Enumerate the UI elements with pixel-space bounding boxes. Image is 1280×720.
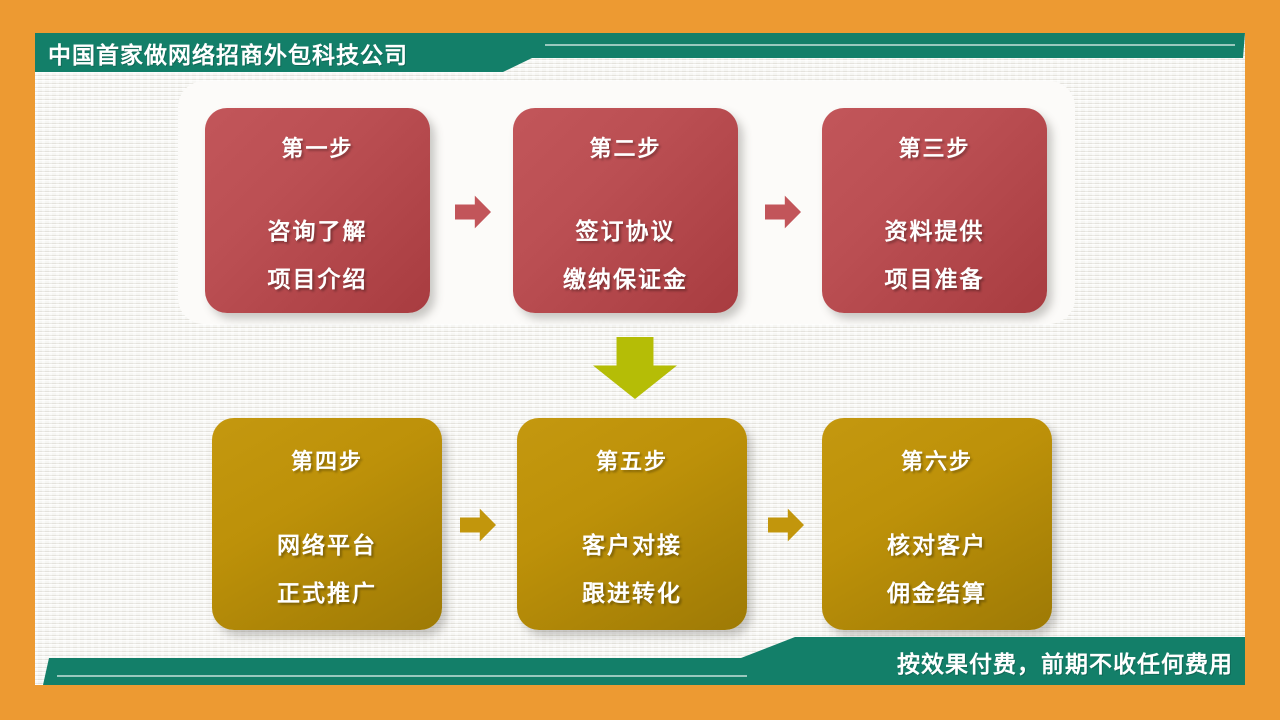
- step-card-2-title: 第二步: [589, 131, 661, 163]
- step-card-1-title: 第一步: [281, 131, 353, 163]
- footer-tagline: 按效果付费，前期不收任何费用: [897, 645, 1233, 679]
- step-card-2-line1: 签订协议: [576, 212, 676, 246]
- step-card-1[interactable]: 第一步 咨询了解 项目介绍: [205, 108, 430, 313]
- step-card-6-line1: 核对客户: [887, 526, 987, 560]
- step-card-6-line2: 佣金结算: [887, 574, 987, 608]
- step-card-5-line2: 跟进转化: [582, 574, 682, 608]
- step-card-4-line1: 网络平台: [277, 526, 377, 560]
- step-card-4-title: 第四步: [291, 444, 363, 476]
- step-card-2[interactable]: 第二步 签订协议 缴纳保证金: [513, 108, 738, 313]
- slide-root: 中国首家做网络招商外包科技公司 第一步 咨询了解 项目介绍 第二步 签订协议 缴…: [0, 0, 1280, 720]
- header-accent-line: [545, 44, 1235, 46]
- step-card-6-title: 第六步: [901, 444, 973, 476]
- step-card-3[interactable]: 第三步 资料提供 项目准备: [822, 108, 1047, 313]
- step-card-2-line2: 缴纳保证金: [563, 260, 688, 294]
- step-card-4[interactable]: 第四步 网络平台 正式推广: [212, 418, 442, 630]
- page-title: 中国首家做网络招商外包科技公司: [48, 36, 408, 70]
- step-card-5-line1: 客户对接: [582, 526, 682, 560]
- step-card-5[interactable]: 第五步 客户对接 跟进转化: [517, 418, 747, 630]
- header-band: 中国首家做网络招商外包科技公司: [35, 33, 1245, 81]
- step-card-1-line1: 咨询了解: [268, 212, 368, 246]
- step-card-3-line2: 项目准备: [885, 260, 985, 294]
- step-card-1-line2: 项目介绍: [268, 260, 368, 294]
- step-card-3-title: 第三步: [898, 131, 970, 163]
- step-card-6[interactable]: 第六步 核对客户 佣金结算: [822, 418, 1052, 630]
- step-card-3-line1: 资料提供: [885, 212, 985, 246]
- step-card-4-line2: 正式推广: [277, 574, 377, 608]
- footer-band: 按效果付费，前期不收任何费用: [35, 625, 1245, 685]
- step-card-5-title: 第五步: [596, 444, 668, 476]
- footer-accent-line: [57, 675, 747, 677]
